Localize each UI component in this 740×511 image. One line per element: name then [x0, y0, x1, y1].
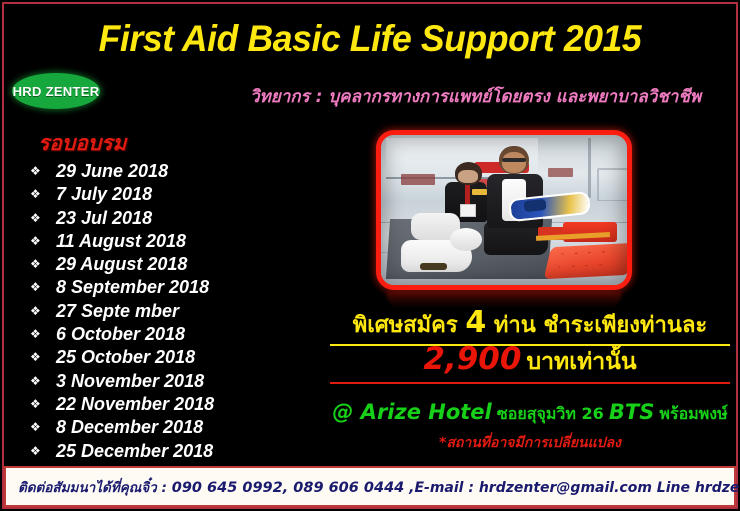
diamond-bullet-icon: ❖ [30, 300, 56, 323]
list-item: ❖29 August 2018 [30, 253, 330, 276]
diamond-bullet-icon: ❖ [30, 346, 56, 369]
photo-blue-demo-board-detail [523, 198, 546, 211]
venue-line: @ Arize Hotel ซอยสุจุมวิท 26 BTS พร้อมพง… [330, 400, 730, 427]
venue-station: พร้อมพงษ์ [659, 404, 727, 423]
date-label: 6 October 2018 [56, 323, 185, 346]
photo-spine-board [544, 242, 627, 278]
list-item: ❖6 October 2018 [30, 323, 330, 346]
venue-change-note: *สถานที่อาจมีการเปลี่ยนแปลง [330, 432, 730, 454]
date-label: 23 Jul 2018 [56, 207, 152, 230]
date-label: 22 November 2018 [56, 393, 214, 416]
list-item: ❖22 November 2018 [30, 393, 330, 416]
list-item: ❖8 September 2018 [30, 276, 330, 299]
date-label: 7 July 2018 [56, 183, 152, 206]
photo-chair [597, 168, 627, 202]
date-label: 25 December 2018 [56, 440, 213, 463]
promo-suffix: ท่าน ชำระเพียงท่านละ [494, 313, 707, 338]
photo-scene [381, 135, 627, 285]
poster-root: First Aid Basic Life Support 2015 HRD ZE… [0, 0, 740, 511]
date-label: 11 August 2018 [56, 230, 186, 253]
contact-phones[interactable]: 090 645 0992, 089 606 0444 [172, 480, 405, 496]
photo-assistant-lanyard [465, 185, 470, 206]
training-dates-list: ❖29 June 2018 ❖7 July 2018 ❖23 Jul 2018 … [30, 160, 330, 463]
diamond-bullet-icon: ❖ [30, 183, 56, 206]
promo-count: 4 [465, 305, 486, 340]
photo-assistant-badge [460, 204, 477, 217]
diamond-bullet-icon: ❖ [30, 393, 56, 416]
promo-price-unit: บาทเท่านั้น [527, 349, 637, 375]
diamond-bullet-icon: ❖ [30, 230, 56, 253]
photo-screen-text [401, 174, 435, 185]
speaker-line: วิทยากร : บุคลากรทางการแพทย์โดยตรง และพย… [250, 83, 730, 110]
venue-soi: ซอยสุจุมวิท 26 [497, 404, 604, 423]
contact-label: ติดต่อสัมมนาได้ที่คุณจิ๋ว : [18, 480, 167, 496]
email-label: ,E-mail : [409, 480, 474, 496]
diamond-bullet-icon: ❖ [30, 323, 56, 346]
photo-spine-board-hole [599, 263, 602, 265]
list-item: ❖23 Jul 2018 [30, 207, 330, 230]
date-label: 27 Septe mber [56, 300, 179, 323]
photo-spine-board-hole [585, 264, 588, 266]
date-label: 3 November 2018 [56, 370, 204, 393]
list-item: ❖3 November 2018 [30, 370, 330, 393]
promo-price-line: 2,900 บาทเท่านั้น [330, 341, 730, 384]
photo-spine-board-hole [602, 251, 605, 253]
photo-pole [588, 138, 591, 198]
photo-spine-board-hole [561, 253, 564, 255]
hrd-zenter-logo: HRD ZENTER [12, 73, 100, 109]
list-item: ❖11 August 2018 [30, 230, 330, 253]
rounds-heading: รอบอบรม [38, 127, 126, 160]
photo-cpr-manikin-head [450, 228, 482, 251]
promo-price: 2,900 [423, 341, 521, 377]
list-item: ❖7 July 2018 [30, 183, 330, 206]
diamond-bullet-icon: ❖ [30, 440, 56, 463]
diamond-bullet-icon: ❖ [30, 160, 56, 183]
contact-email[interactable]: hrdzenter@gmail.com [479, 480, 652, 496]
photo-instructor-face [502, 152, 527, 173]
photo-assistant-face [458, 170, 478, 184]
logo-label: HRD ZENTER [13, 84, 100, 99]
photo-spine-board-hole [575, 252, 578, 254]
date-label: 25 October 2018 [56, 346, 195, 369]
list-item: ❖25 October 2018 [30, 346, 330, 369]
date-label: 29 August 2018 [56, 253, 187, 276]
diamond-bullet-icon: ❖ [30, 207, 56, 230]
photo-instructor-glasses [502, 158, 527, 163]
photo-assistant-logo [472, 189, 487, 195]
venue-name: @ Arize Hotel [332, 400, 491, 424]
diamond-bullet-icon: ❖ [30, 253, 56, 276]
diamond-bullet-icon: ❖ [30, 416, 56, 439]
promo-headline: พิเศษสมัคร 4 ท่าน ชำระเพียงท่านละ [330, 305, 730, 346]
line-id[interactable]: hrdzenter [695, 480, 740, 496]
line-label: Line [657, 480, 690, 496]
page-title: First Aid Basic Life Support 2015 [15, 18, 725, 60]
date-label: 8 December 2018 [56, 416, 203, 439]
photo-spine-board-hole [558, 265, 561, 267]
photo-manikin-detail [420, 263, 447, 271]
footer-contact-text: ติดต่อสัมมนาได้ที่คุณจิ๋ว : 090 645 0992… [6, 476, 740, 498]
photo-spine-board-hole [588, 251, 591, 253]
training-photo [376, 130, 632, 290]
contact-footer: ติดต่อสัมมนาได้ที่คุณจิ๋ว : 090 645 0992… [4, 466, 736, 507]
diamond-bullet-icon: ❖ [30, 370, 56, 393]
list-item: ❖27 Septe mber [30, 300, 330, 323]
list-item: ❖8 December 2018 [30, 416, 330, 439]
diamond-bullet-icon: ❖ [30, 276, 56, 299]
photo-screen-text [548, 168, 573, 177]
date-label: 8 September 2018 [56, 276, 209, 299]
promo-prefix: พิเศษสมัคร [353, 313, 458, 338]
list-item: ❖29 June 2018 [30, 160, 330, 183]
photo-spine-board-hole [572, 265, 575, 267]
list-item: ❖25 December 2018 [30, 440, 330, 463]
date-label: 29 June 2018 [56, 160, 168, 183]
venue-bts-label: BTS [609, 400, 654, 424]
